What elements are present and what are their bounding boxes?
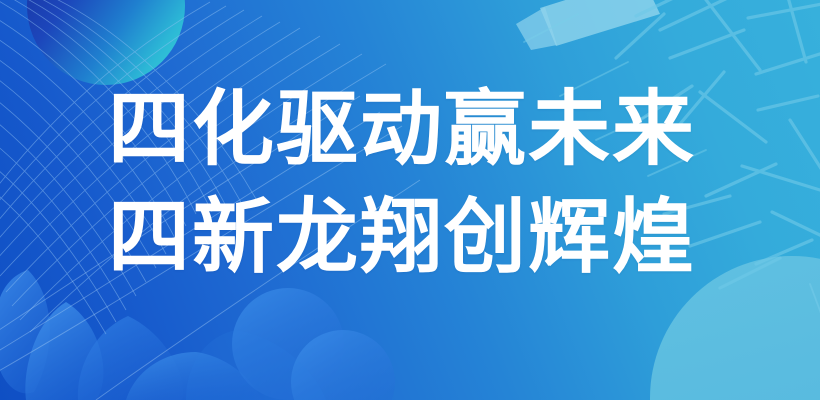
petal-blob-2 <box>25 302 103 400</box>
gradient-sphere <box>27 0 185 85</box>
soft-circle-1 <box>232 288 344 400</box>
headline-line-2: 四新龙翔创辉煌 <box>108 184 748 292</box>
petal-blob-4 <box>126 352 262 400</box>
soft-circle-2 <box>291 330 395 400</box>
headline-block: 四化驱动赢未来 四新龙翔创辉煌 <box>108 76 748 292</box>
petal-blob-1 <box>0 270 50 393</box>
light-ribbon <box>540 0 660 46</box>
petal-blob-3 <box>78 316 183 400</box>
petal-blob-5 <box>186 330 326 400</box>
headline-line-1: 四化驱动赢未来 <box>108 76 748 184</box>
promo-banner: 四化驱动赢未来 四新龙翔创辉煌 <box>0 0 820 400</box>
light-ribbon-tail <box>516 7 557 50</box>
